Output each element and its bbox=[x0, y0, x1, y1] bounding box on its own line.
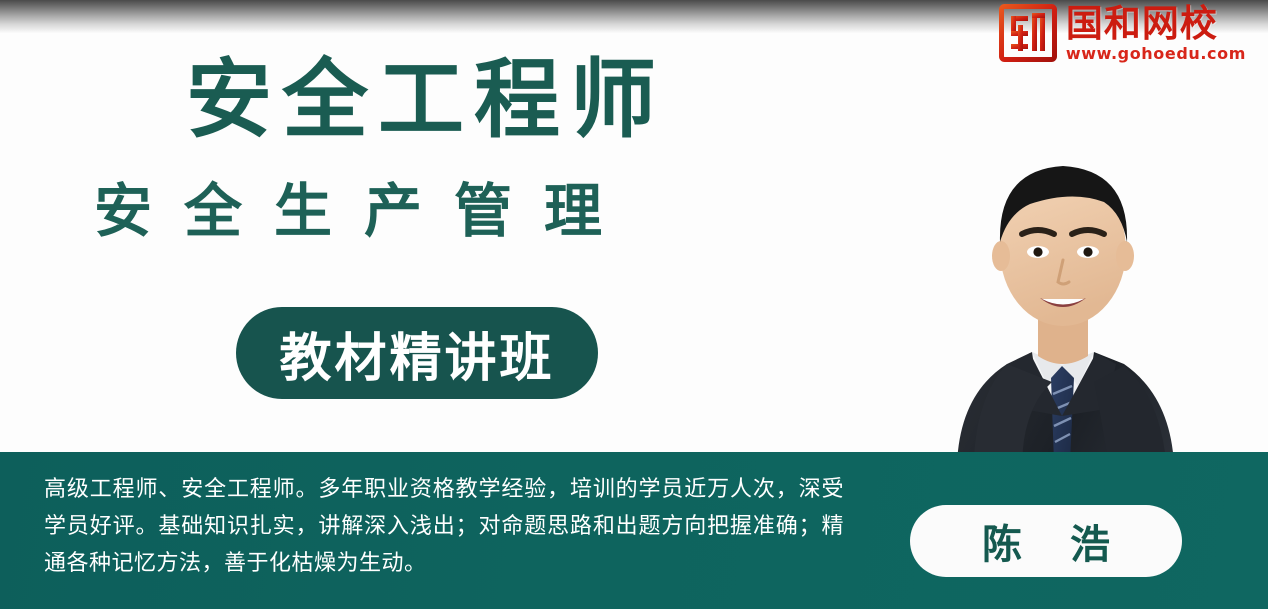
course-subtitle: 安全生产管理 bbox=[94, 180, 634, 244]
instructor-name: 陈 浩 bbox=[965, 512, 1127, 570]
instructor-bio: 高级工程师、安全工程师。多年职业资格教学经验，培训的学员近万人次，深受学员好评。… bbox=[44, 471, 844, 582]
brand-url: www.gohoedu.com bbox=[1066, 46, 1246, 62]
course-banner: 国和网校 www.gohoedu.com 安全工程师 安全生产管理 教材精讲班 bbox=[0, 0, 1268, 609]
course-type-label: 教材精讲班 bbox=[279, 316, 554, 391]
seal-square-logo-icon bbox=[999, 4, 1057, 62]
brand-logo[interactable]: 国和网校 www.gohoedu.com bbox=[999, 4, 1246, 62]
course-title: 安全工程师 bbox=[186, 54, 666, 147]
course-type-pill[interactable]: 教材精讲班 bbox=[236, 307, 598, 399]
brand-name: 国和网校 bbox=[1066, 5, 1218, 42]
instructor-name-pill: 陈 浩 bbox=[910, 505, 1182, 577]
